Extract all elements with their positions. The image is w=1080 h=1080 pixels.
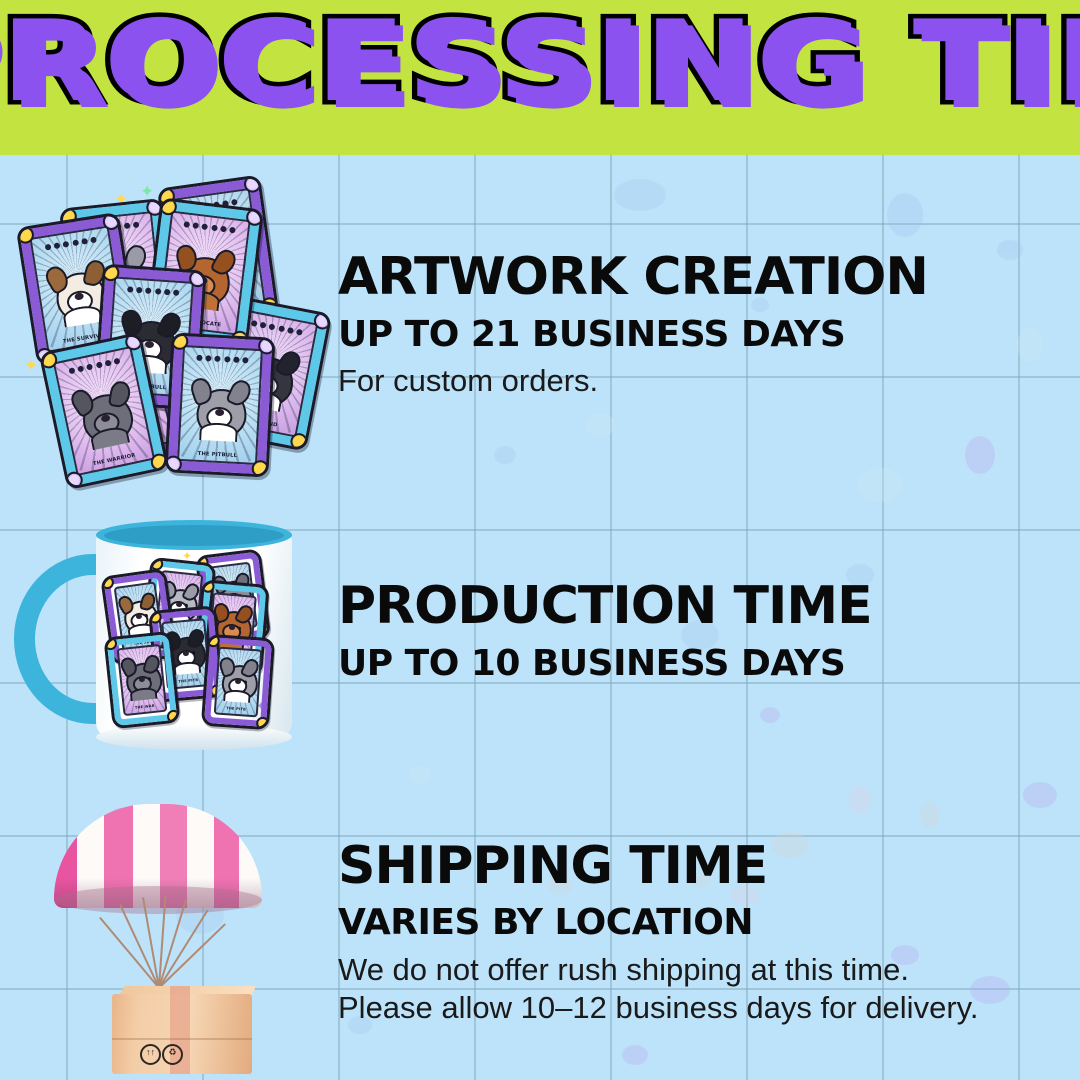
shipping-box: ↑↑ ♻: [112, 986, 252, 1074]
mug-print-artwork: ✦ ✦ ✦ ✦ THE GUARDI: [104, 550, 286, 726]
sun-icon: [251, 460, 269, 478]
section-shipping-time: ↑↑ ♻ SHIPPING TIME VARIES BY LOCATION We…: [0, 790, 1080, 1075]
shipping-headline: SHIPPING TIME: [338, 839, 1080, 894]
dog-tarot-card-pile-icon: ✦ ✦ ✦ ✦ ✦ ✦ ✦ ✦ ✦: [0, 175, 330, 475]
production-text-block: PRODUCTION TIME UP TO 10 BUSINESS DAYS: [330, 579, 1080, 691]
tarot-card: THE WARRIOR: [103, 631, 180, 730]
artwork-text-block: ARTWORK CREATION UP TO 21 BUSINESS DAYS …: [330, 250, 1080, 400]
shipping-note-line: Please allow 10–12 business days for del…: [338, 989, 1080, 1027]
shipping-note: We do not offer rush shipping at this ti…: [338, 951, 1080, 1027]
card-frame: [204, 637, 272, 727]
shipping-note-line: We do not offer rush shipping at this ti…: [338, 951, 1080, 989]
section-production-time: ✦ ✦ ✦ ✦ THE GUARDI: [0, 490, 1080, 780]
box-seam: [112, 1038, 252, 1040]
artwork-headline: ARTWORK CREATION: [338, 250, 1080, 305]
shipping-text-block: SHIPPING TIME VARIES BY LOCATION We do n…: [330, 839, 1080, 1027]
mug-illustration-cell: ✦ ✦ ✦ ✦ THE GUARDI: [0, 490, 330, 780]
card-frame: [168, 336, 273, 475]
header-band: PROCESSING TIME: [0, 0, 1080, 155]
sparkle-icon: ✦: [24, 357, 38, 374]
production-subline: UP TO 10 BUSINESS DAYS: [338, 644, 1080, 684]
artwork-illustration-cell: ✦ ✦ ✦ ✦ ✦ ✦ ✦ ✦ ✦: [0, 175, 330, 475]
section-artwork-creation: ✦ ✦ ✦ ✦ ✦ ✦ ✦ ✦ ✦: [0, 175, 1080, 475]
parachute-package-icon: ↑↑ ♻: [26, 790, 316, 1075]
parachute-strings: [54, 894, 262, 988]
tarot-card: THE PITBULL: [201, 634, 275, 731]
processing-time-infographic: PROCESSING TIME ✦ ✦ ✦ ✦ ✦ ✦ ✦ ✦ ✦: [0, 0, 1080, 1080]
page-title: PROCESSING TIME: [0, 2, 1080, 122]
artwork-note: For custom orders.: [338, 362, 1080, 400]
sparkle-icon: ✦: [140, 183, 154, 200]
tarot-card: THE PITBULL: [164, 332, 275, 477]
artwork-subline: UP TO 21 BUSINESS DAYS: [338, 315, 1080, 355]
shipping-subline: VARIES BY LOCATION: [338, 903, 1080, 943]
moon-orb-icon: [164, 455, 182, 473]
recycle-icon: ♻: [162, 1044, 183, 1065]
artwork-note-line: For custom orders.: [338, 362, 1080, 400]
sun-icon: [166, 709, 180, 723]
printed-mug-icon: ✦ ✦ ✦ ✦ THE GUARDI: [8, 498, 330, 774]
sun-icon: [289, 432, 309, 452]
production-headline: PRODUCTION TIME: [338, 579, 1080, 634]
mug-interior: [104, 525, 284, 546]
this-side-up-icon: ↑↑: [140, 1044, 161, 1065]
shipping-illustration-cell: ↑↑ ♻: [0, 790, 330, 1075]
